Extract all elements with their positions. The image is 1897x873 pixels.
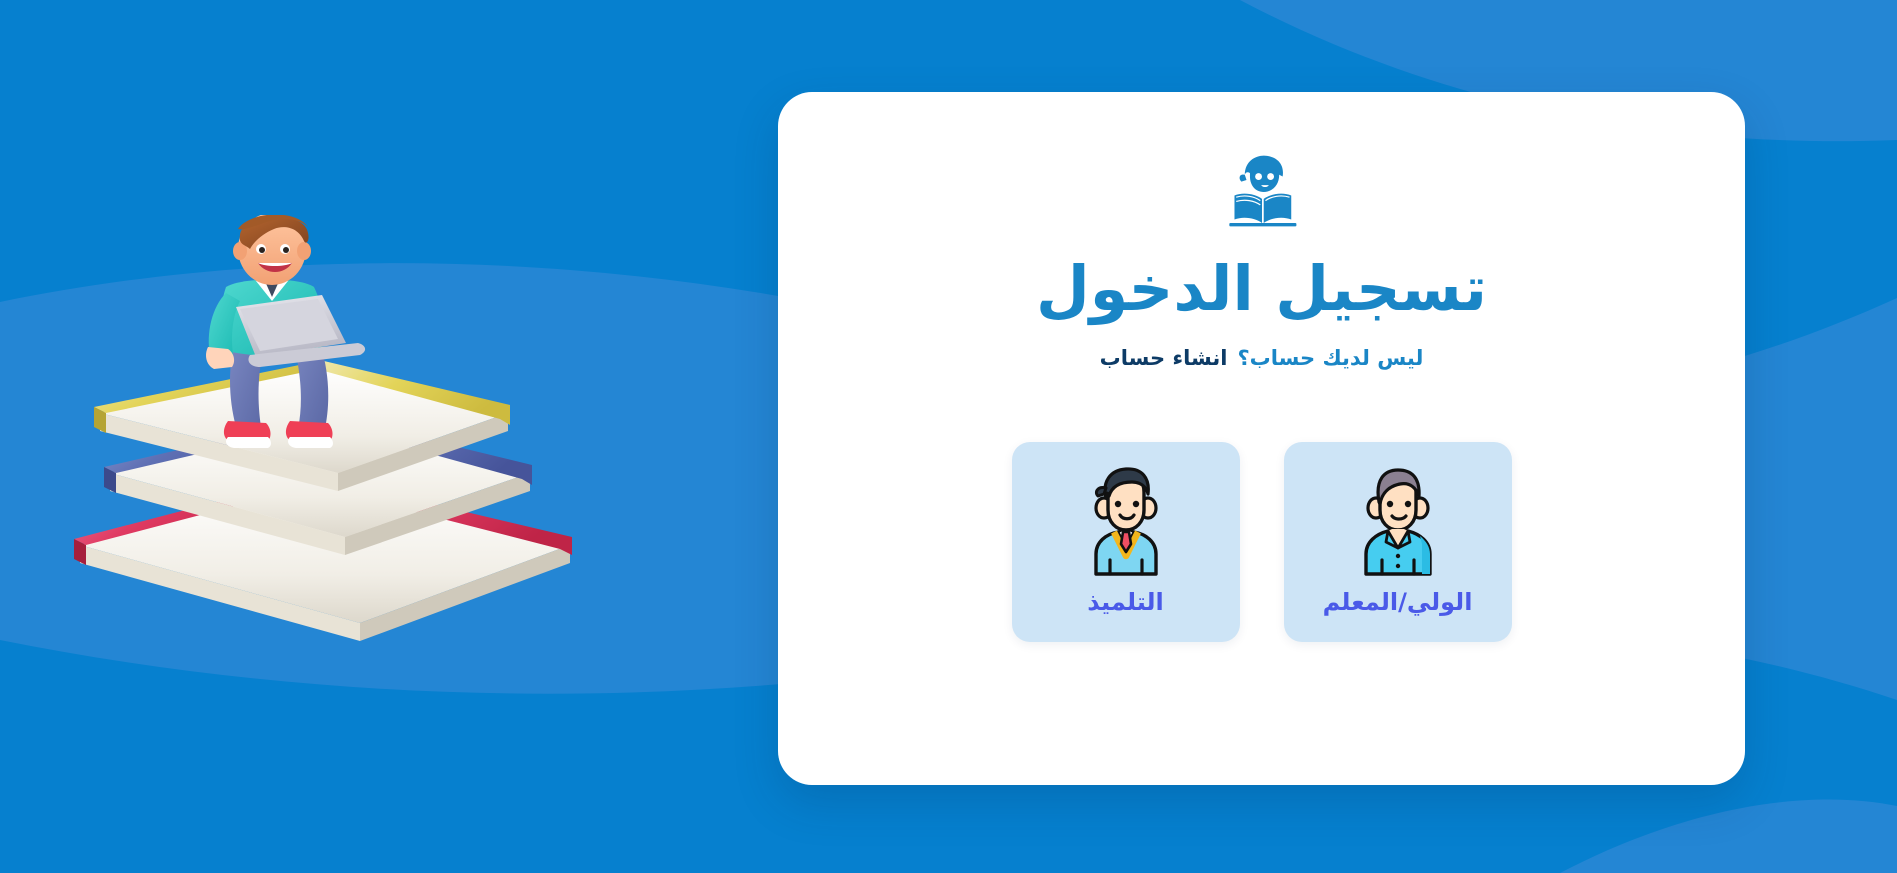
reader-book-logo-icon bbox=[1219, 149, 1305, 235]
role-card-student[interactable]: التلميذ bbox=[1012, 442, 1240, 642]
parent-teacher-avatar-icon bbox=[1346, 462, 1450, 578]
role-selection-row: التلميذ bbox=[1012, 442, 1512, 642]
login-card: تسجيل الدخول ليس لديك حساب؟ انشاء حساب bbox=[778, 92, 1745, 785]
student-avatar-icon bbox=[1074, 462, 1178, 578]
page-title: تسجيل الدخول bbox=[1036, 253, 1487, 324]
signup-prompt: ليس لديك حساب؟ انشاء حساب bbox=[1100, 346, 1424, 370]
role-label-student: التلميذ bbox=[1087, 588, 1164, 616]
signup-question-text: ليس لديك حساب؟ bbox=[1238, 346, 1424, 370]
login-page: تسجيل الدخول ليس لديك حساب؟ انشاء حساب bbox=[0, 0, 1897, 873]
create-account-link[interactable]: انشاء حساب bbox=[1100, 346, 1228, 370]
role-card-parent-teacher[interactable]: الولي/المعلم bbox=[1284, 442, 1512, 642]
boy-with-laptop-on-books-illustration bbox=[60, 215, 590, 655]
role-label-parent-teacher: الولي/المعلم bbox=[1323, 588, 1473, 616]
